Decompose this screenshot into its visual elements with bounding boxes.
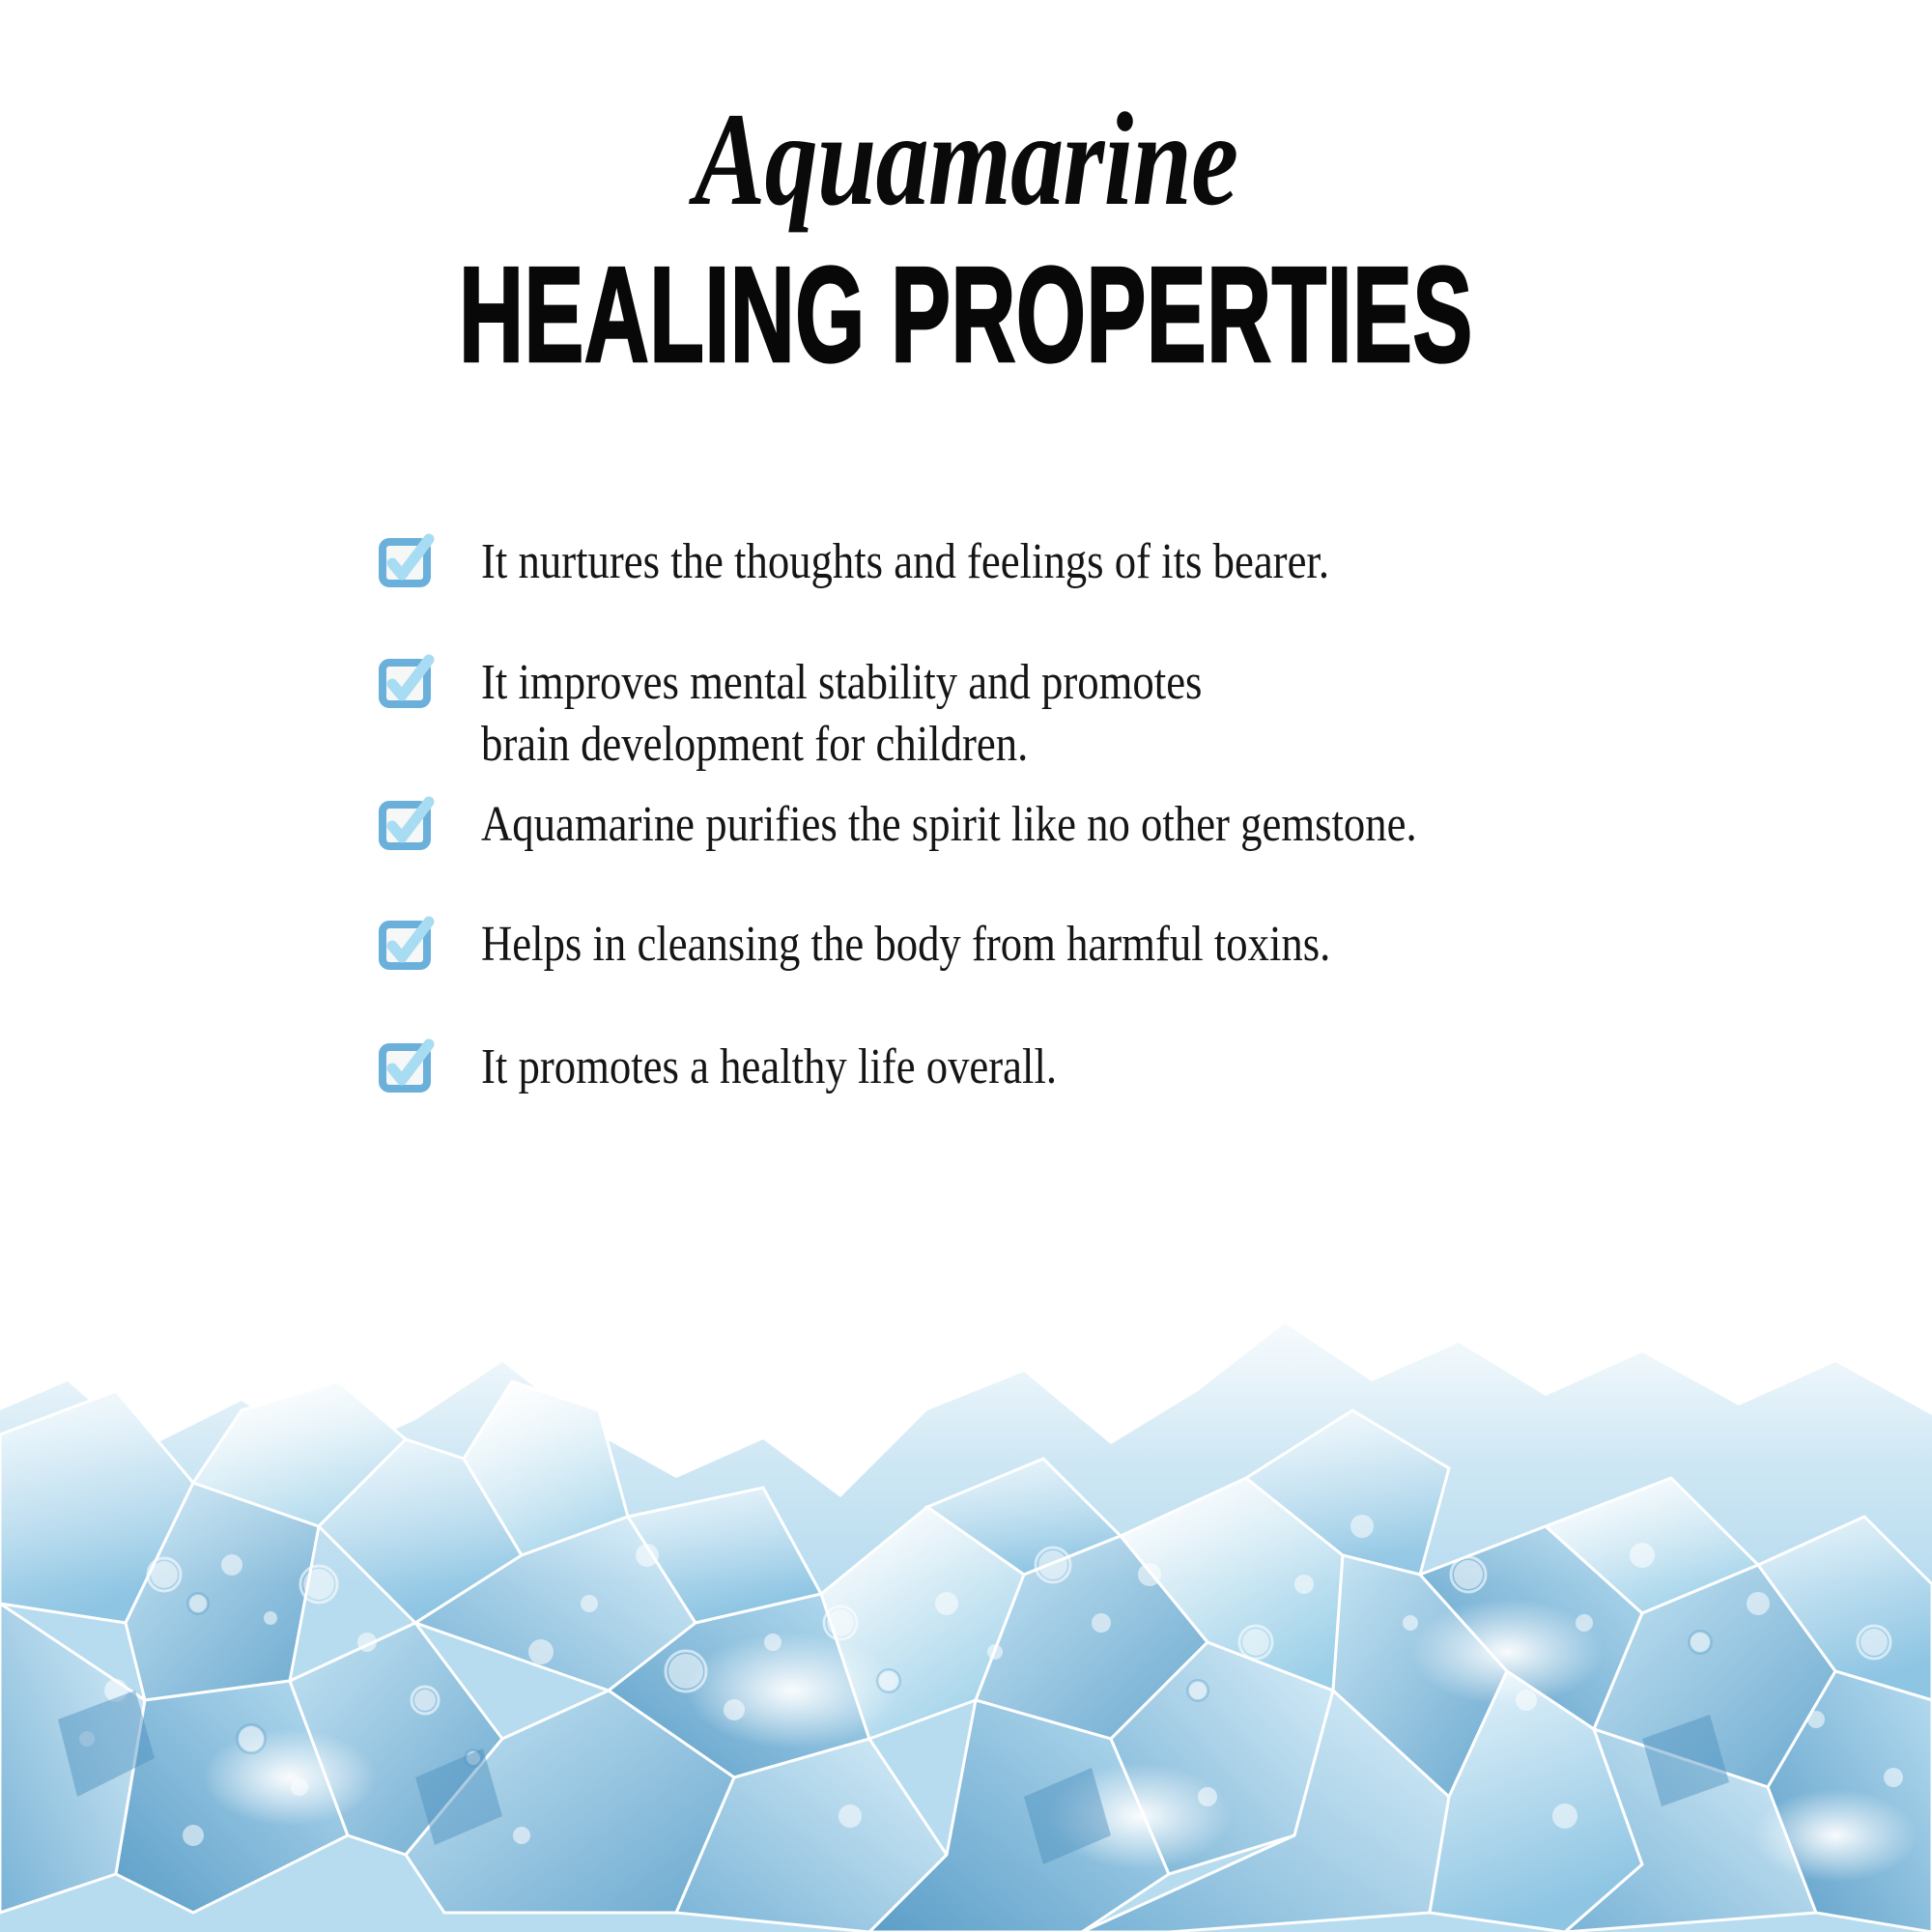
checkbox-checked-icon[interactable] [379, 1042, 433, 1093]
checkbox-checked-icon[interactable] [379, 658, 433, 708]
checkbox-checked-icon[interactable] [379, 537, 433, 587]
page-subtitle: HEALING PROPERTIES [290, 247, 1642, 383]
list-item-label: Helps in cleansing the body from harmful… [481, 912, 1330, 975]
list-item-label: It improves mental stability and promote… [481, 650, 1202, 775]
list-item[interactable]: It promotes a healthy life overall. [379, 1035, 1847, 1097]
list-item[interactable]: It improves mental stability and promote… [379, 650, 1847, 775]
ice-cubes-photo [0, 1236, 1932, 1932]
checkbox-checked-icon[interactable] [379, 920, 433, 970]
checkbox-checked-icon[interactable] [379, 800, 433, 850]
list-item[interactable]: Helps in cleansing the body from harmful… [379, 912, 1847, 975]
heading-block: Aquamarine HEALING PROPERTIES [0, 93, 1932, 379]
poster-canvas: Aquamarine HEALING PROPERTIES It nurture… [0, 0, 1932, 1932]
list-item-label: Aquamarine purifies the spirit like no o… [481, 792, 1417, 855]
list-item-label: It nurtures the thoughts and feelings of… [481, 529, 1329, 592]
healing-properties-list: It nurtures the thoughts and feelings of… [379, 529, 1847, 1098]
list-item-label: It promotes a healthy life overall. [481, 1035, 1057, 1097]
list-item[interactable]: Aquamarine purifies the spirit like no o… [379, 792, 1847, 855]
page-title: Aquamarine [193, 93, 1739, 226]
list-item[interactable]: It nurtures the thoughts and feelings of… [379, 529, 1847, 592]
